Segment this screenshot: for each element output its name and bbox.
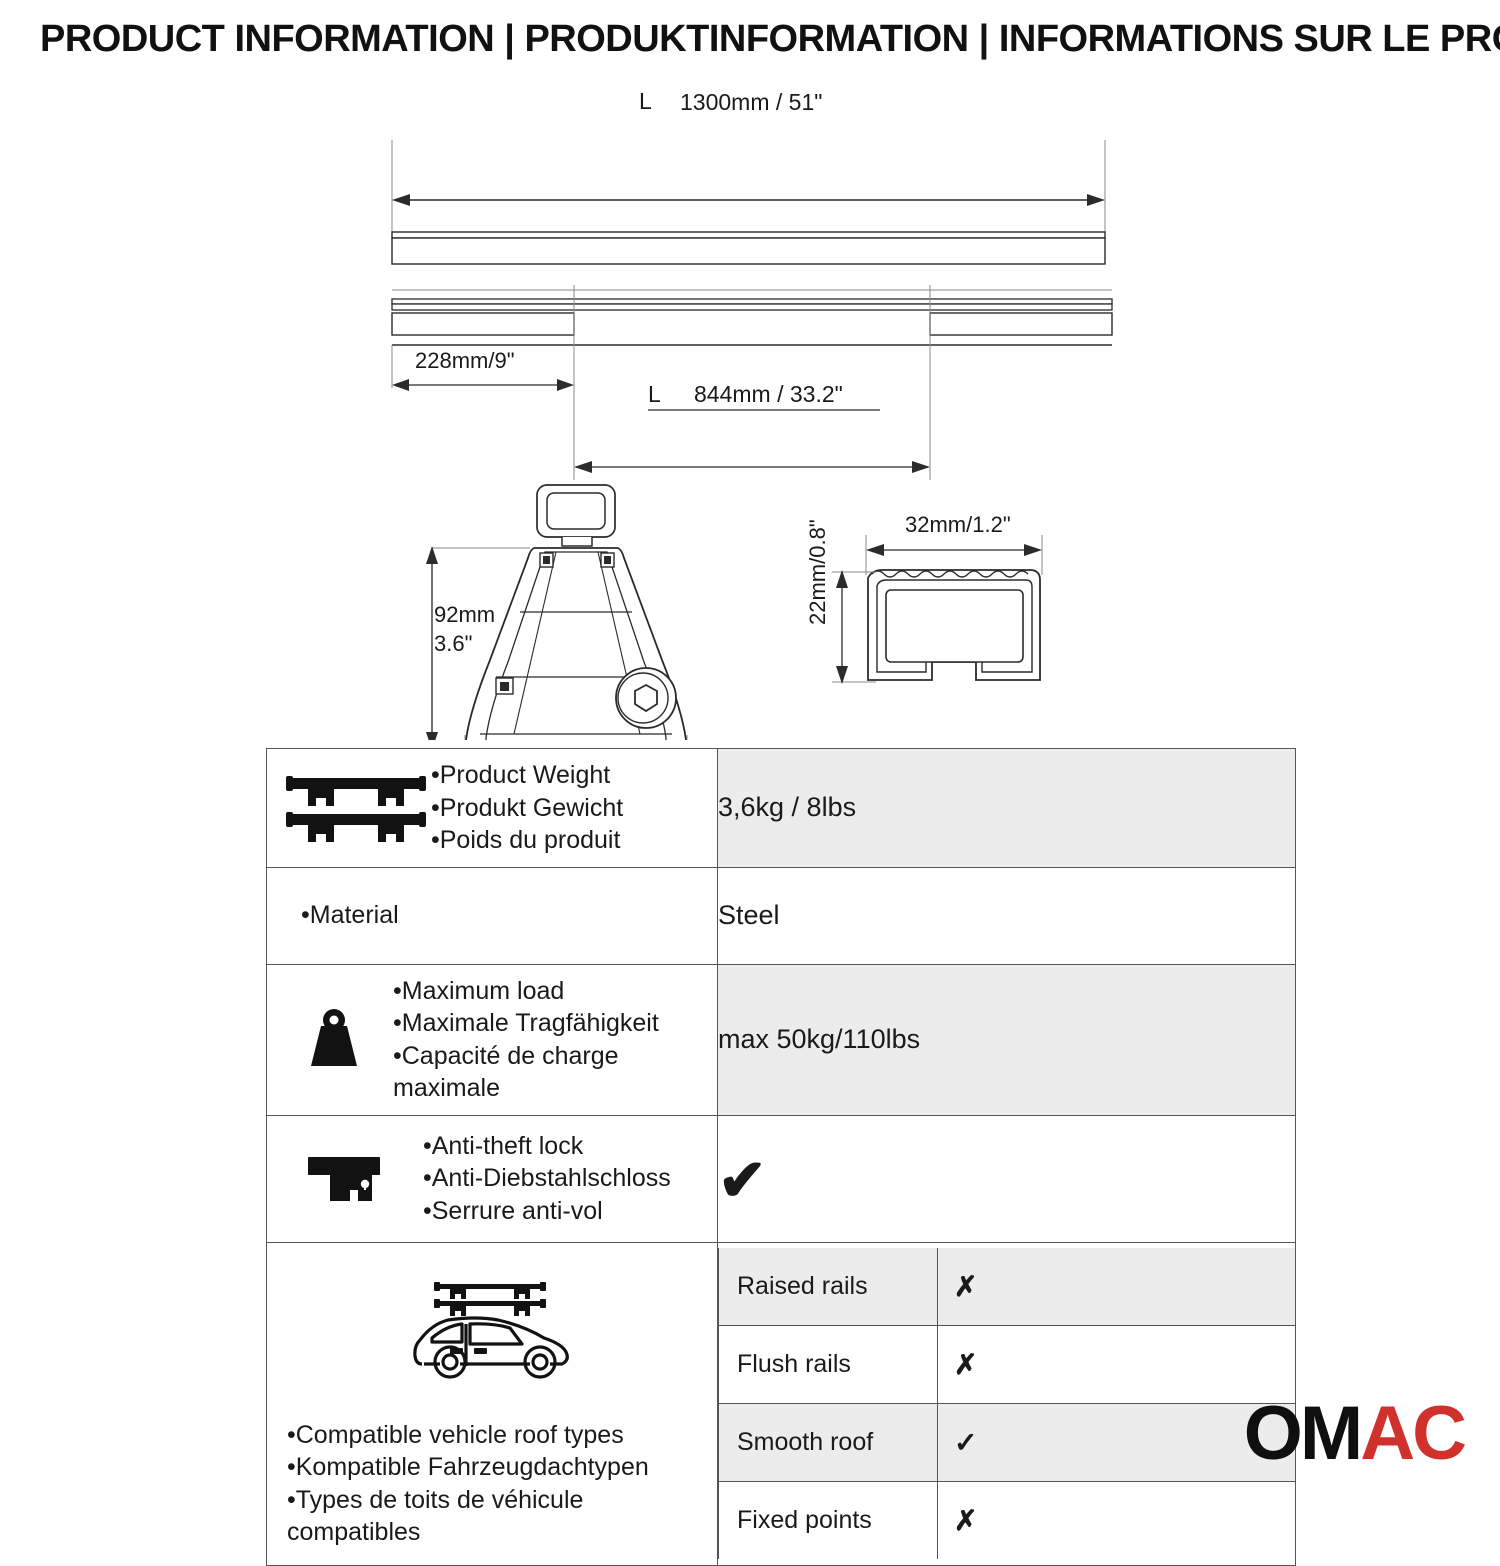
roof-type-row-smooth-roof: Smooth roof ✓ xyxy=(719,1404,1296,1482)
roof-type-name: Fixed points xyxy=(719,1482,938,1560)
row-bullets-anti-theft-lock: •Anti-theft lock •Anti-Diebstahlschloss … xyxy=(423,1130,671,1228)
roof-type-row-flush-rails: Flush rails ✗ xyxy=(719,1326,1296,1404)
roof-type-name: Smooth roof xyxy=(719,1404,938,1482)
profile-height-value: 22mm/0.8" xyxy=(805,519,830,625)
bullet-line: •Material xyxy=(301,899,399,932)
bullet-line: •Product Weight xyxy=(431,759,623,792)
row-label-product-weight: •Product Weight •Produkt Gewicht •Poids … xyxy=(267,749,718,868)
row-bullets-product-weight: •Product Weight •Produkt Gewicht •Poids … xyxy=(431,759,623,857)
profile-width-value: 32mm/1.2" xyxy=(905,512,1011,537)
product-information-page: PRODUCT INFORMATION | PRODUKTINFORMATION… xyxy=(0,0,1500,1500)
bullet-line: •Serrure anti-vol xyxy=(423,1195,671,1228)
bullet-line: •Anti-theft lock xyxy=(423,1130,671,1163)
row-value-maximum-load: max 50kg/110lbs xyxy=(718,964,1296,1115)
roof-type-row-fixed-points: Fixed points ✗ xyxy=(719,1482,1296,1560)
row-bullets-maximum-load: •Maximum load •Maximale Tragfähigkeit •C… xyxy=(393,975,709,1105)
span-label: L xyxy=(648,381,661,407)
bullet-line: •Capacité de charge maximale xyxy=(393,1040,709,1105)
row-bullets-compatible-roof-types: •Compatible vehicle roof types •Kompatib… xyxy=(277,1419,649,1549)
roof-type-name: Raised rails xyxy=(719,1248,938,1326)
bar-length-value: 1300mm / 51" xyxy=(680,89,822,115)
row-label-compatible-roof-types: •Compatible vehicle roof types •Kompatib… xyxy=(267,1242,718,1565)
bullet-line: •Kompatible Fahrzeugdachtypen xyxy=(287,1451,649,1484)
technical-drawing: L 1300mm / 51" 228mm/9" L 844mm / 33.2" … xyxy=(0,80,1500,740)
table-row-compatibility: •Compatible vehicle roof types •Kompatib… xyxy=(267,1242,1296,1565)
table-row: •Maximum load •Maximale Tragfähigkeit •C… xyxy=(267,964,1296,1115)
crossbars-icon xyxy=(281,772,431,844)
omac-logo-dark-part: OM xyxy=(1244,1391,1360,1476)
roof-type-mark: ✗ xyxy=(938,1326,1296,1404)
lock-icon xyxy=(275,1153,423,1205)
bullet-line: •Compatible vehicle roof types xyxy=(287,1419,649,1452)
bullet-line: •Maximale Tragfähigkeit xyxy=(393,1007,709,1040)
car-with-roof-rack-icon xyxy=(402,1257,582,1407)
foot-height-value-line2: 3.6" xyxy=(434,631,472,656)
row-bullets-material: •Material xyxy=(301,899,399,932)
roof-type-mark: ✗ xyxy=(938,1482,1296,1560)
table-row: •Anti-theft lock •Anti-Diebstahlschloss … xyxy=(267,1115,1296,1242)
weight-icon xyxy=(275,1007,393,1073)
bar-length-label: L xyxy=(639,88,652,114)
bullet-line: •Anti-Diebstahlschloss xyxy=(423,1162,671,1195)
specification-table: •Product Weight •Produkt Gewicht •Poids … xyxy=(266,748,1296,1566)
bullet-line: compatibles xyxy=(287,1516,649,1549)
bullet-line: •Poids du produit xyxy=(431,824,623,857)
omac-logo-red-part: AC xyxy=(1360,1391,1464,1476)
roof-type-mark: ✓ xyxy=(938,1404,1296,1482)
roof-type-name: Flush rails xyxy=(719,1326,938,1404)
end-offset-value: 228mm/9" xyxy=(415,348,515,373)
foot-height-value-line1: 92mm xyxy=(434,602,495,627)
bullet-line: •Maximum load xyxy=(393,975,709,1008)
row-value-material: Steel xyxy=(718,867,1296,964)
span-value: 844mm / 33.2" xyxy=(694,381,843,407)
technical-drawing-svg: L 1300mm / 51" 228mm/9" L 844mm / 33.2" … xyxy=(0,80,1500,740)
anti-theft-check-mark: ✔ xyxy=(718,1152,767,1210)
row-value-anti-theft-lock: ✔ xyxy=(718,1115,1296,1242)
omac-logo: OMAC xyxy=(1244,1396,1464,1472)
roof-type-mark: ✗ xyxy=(938,1248,1296,1326)
roof-type-options-table: Raised rails ✗ Flush rails ✗ Smooth roof… xyxy=(718,1248,1295,1559)
page-title: PRODUCT INFORMATION | PRODUKTINFORMATION… xyxy=(40,18,1470,61)
table-row: •Product Weight •Produkt Gewicht •Poids … xyxy=(267,749,1296,868)
bullet-line: •Produkt Gewicht xyxy=(431,792,623,825)
table-row: •Material Steel xyxy=(267,867,1296,964)
row-label-maximum-load: •Maximum load •Maximale Tragfähigkeit •C… xyxy=(267,964,718,1115)
roof-type-row-raised-rails: Raised rails ✗ xyxy=(719,1248,1296,1326)
roof-type-options-cell: Raised rails ✗ Flush rails ✗ Smooth roof… xyxy=(718,1242,1296,1565)
row-value-product-weight: 3,6kg / 8lbs xyxy=(718,749,1296,868)
row-label-anti-theft-lock: •Anti-theft lock •Anti-Diebstahlschloss … xyxy=(267,1115,718,1242)
row-label-material: •Material xyxy=(267,867,718,964)
